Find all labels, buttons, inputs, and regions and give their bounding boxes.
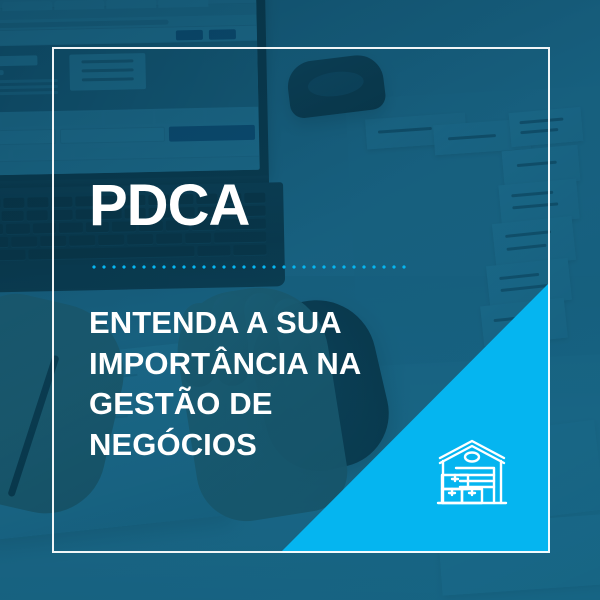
page-title: PDCA	[89, 177, 249, 235]
subtitle-line-2: IMPORTÂNCIA NA	[89, 344, 409, 385]
poster-canvas: PDCA ENTENDA A SUA IMPORTÂNCIA NA GESTÃO…	[0, 0, 600, 600]
page-subtitle: ENTENDA A SUA IMPORTÂNCIA NA GESTÃO DE N…	[89, 303, 409, 465]
subtitle-line-4: NEGÓCIOS	[89, 425, 409, 466]
warehouse-icon	[432, 437, 512, 513]
subtitle-line-3: GESTÃO DE	[89, 384, 409, 425]
dotted-divider	[89, 265, 411, 269]
subtitle-line-1: ENTENDA A SUA	[89, 303, 409, 344]
